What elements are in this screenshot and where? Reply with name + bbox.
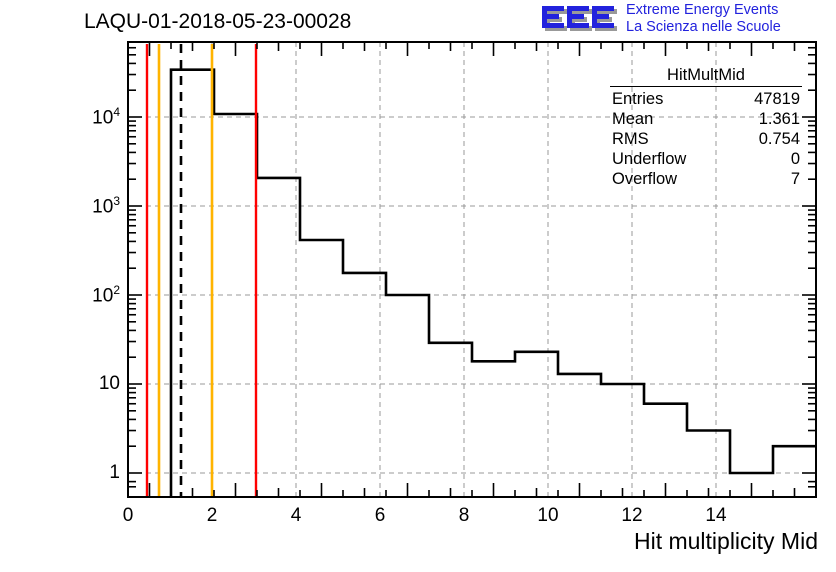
stats-row: Mean1.361 bbox=[608, 109, 804, 129]
x-tick-label-2: 2 bbox=[192, 505, 232, 527]
stats-row-key: Overflow bbox=[612, 169, 677, 189]
x-tick-label-12: 12 bbox=[612, 505, 652, 527]
stats-box-rows: Entries47819Mean1.361RMS0.754Underflow0O… bbox=[608, 89, 804, 189]
stats-row: RMS0.754 bbox=[608, 129, 804, 149]
x-tick-label-8: 8 bbox=[444, 505, 484, 527]
stats-row-value: 0 bbox=[791, 149, 800, 169]
x-axis-title: Hit multiplicity Mid bbox=[634, 528, 818, 555]
stats-row-key: Entries bbox=[612, 89, 663, 109]
stats-box-title: HitMultMid bbox=[610, 66, 802, 87]
stats-row: Overflow7 bbox=[608, 169, 804, 189]
stats-row: Underflow0 bbox=[608, 149, 804, 169]
x-tick-label-4: 4 bbox=[276, 505, 316, 527]
stats-box: HitMultMid Entries47819Mean1.361RMS0.754… bbox=[608, 66, 804, 189]
stats-row-key: Underflow bbox=[612, 149, 686, 169]
stats-row-key: RMS bbox=[612, 129, 649, 149]
stats-row-value: 7 bbox=[791, 169, 800, 189]
y-tick-label-10: 10 bbox=[56, 373, 120, 395]
x-tick-label-6: 6 bbox=[360, 505, 400, 527]
y-tick-label-1e3: 103 bbox=[56, 194, 120, 218]
y-tick-label-1e2: 102 bbox=[56, 283, 120, 307]
stats-row-key: Mean bbox=[612, 109, 653, 129]
stats-row-value: 47819 bbox=[754, 89, 800, 109]
x-tick-label-10: 10 bbox=[528, 505, 568, 527]
x-tick-label-0: 0 bbox=[108, 505, 148, 527]
y-tick-label-1: 1 bbox=[56, 462, 120, 484]
stats-row: Entries47819 bbox=[608, 89, 804, 109]
y-tick-label-1e4: 104 bbox=[56, 105, 120, 129]
marker-lines bbox=[147, 44, 256, 496]
stats-row-value: 1.361 bbox=[759, 109, 800, 129]
x-tick-label-14: 14 bbox=[696, 505, 736, 527]
stats-row-value: 0.754 bbox=[759, 129, 800, 149]
